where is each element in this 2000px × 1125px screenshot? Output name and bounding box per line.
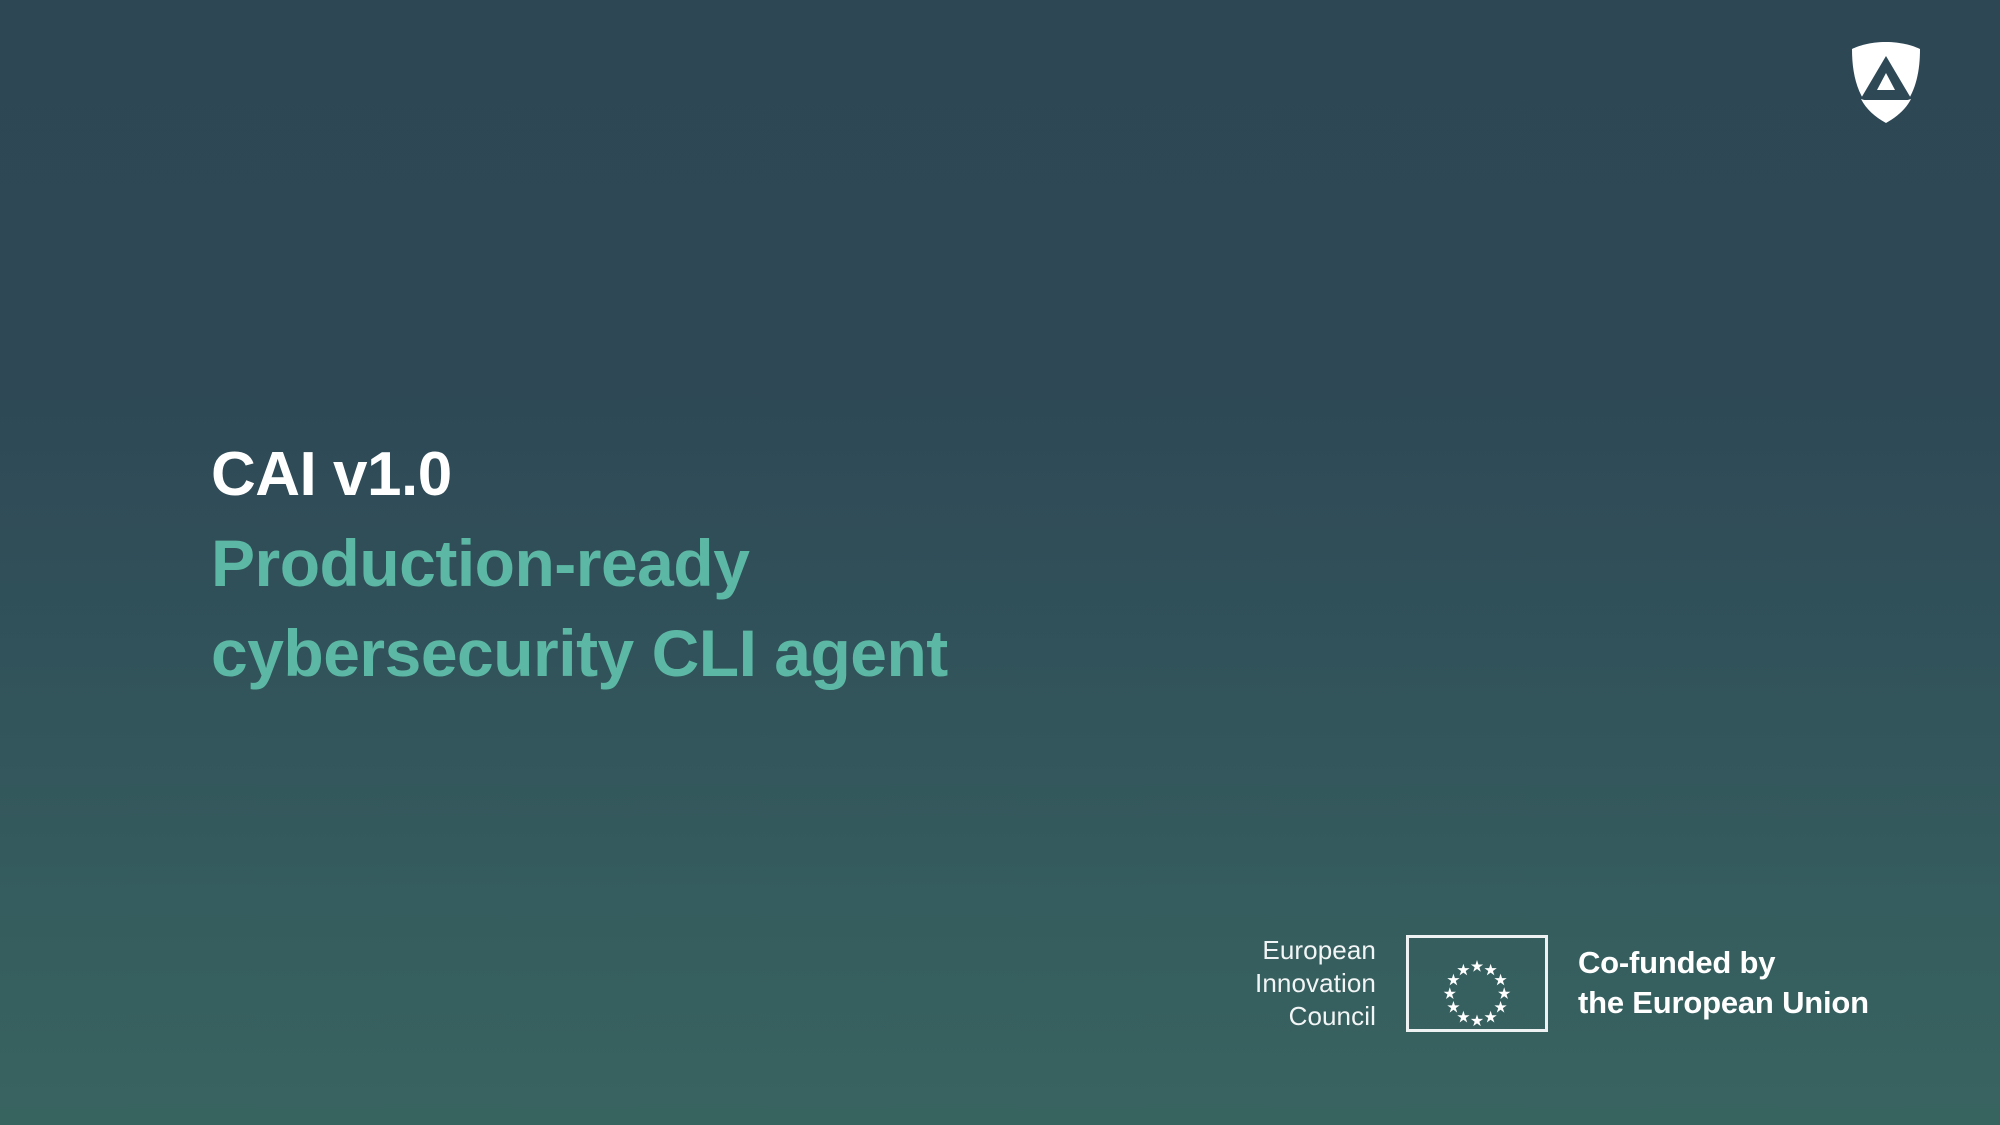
cofunded-line-1: Co-funded by — [1578, 943, 1869, 983]
eic-line-1: European — [1255, 934, 1376, 967]
cofunded-line-2: the European Union — [1578, 983, 1869, 1023]
eu-flag-stars-icon — [1406, 935, 1548, 1032]
slide-canvas: CAI v1.0 Production-ready cybersecurity … — [0, 0, 2000, 1125]
eic-wordmark: European Innovation Council — [1255, 934, 1406, 1033]
eic-line-2: Innovation — [1255, 967, 1376, 1000]
cofunded-text: Co-funded by the European Union — [1548, 943, 1869, 1023]
headline-block: CAI v1.0 Production-ready cybersecurity … — [211, 432, 1411, 698]
shield-triangle-logo-icon — [1850, 40, 1922, 124]
page-title: CAI v1.0 — [211, 432, 1411, 518]
eic-line-3: Council — [1255, 1000, 1376, 1033]
subtitle-line-1: Production-ready — [211, 518, 1411, 608]
funding-acknowledgement: European Innovation Council — [1255, 928, 1869, 1038]
subtitle-line-2: cybersecurity CLI agent — [211, 608, 1411, 698]
